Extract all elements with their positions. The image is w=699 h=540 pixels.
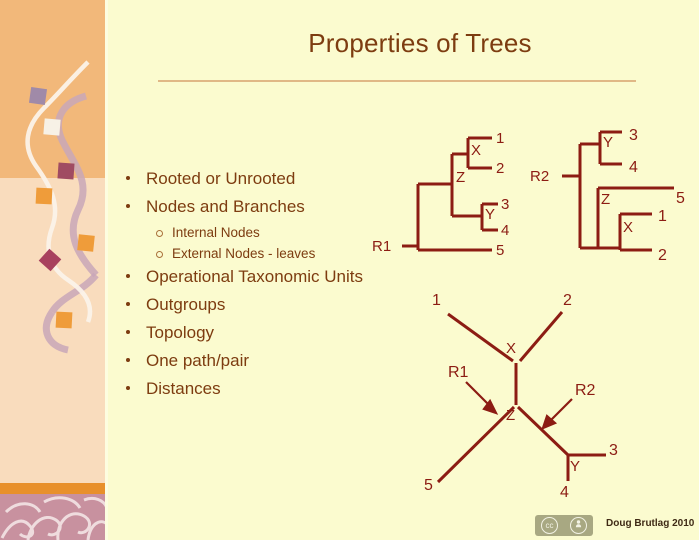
r2-branches bbox=[562, 132, 674, 250]
r1-leaf-4-label: 4 bbox=[501, 222, 509, 239]
sidebar-edge-highlight bbox=[105, 0, 108, 540]
title-divider bbox=[158, 80, 636, 82]
unrooted-r1-label: R1 bbox=[448, 364, 469, 381]
cc-icon: cc bbox=[541, 517, 558, 534]
r1-node-x-label: X bbox=[471, 142, 481, 159]
rooted-tree-r2-diagram: R2 Y Z X 3 4 5 1 2 bbox=[528, 126, 688, 276]
r2-leaf-2-label: 2 bbox=[658, 247, 667, 264]
r2-node-x-label: X bbox=[623, 219, 633, 236]
sidebar-square-maroon-1 bbox=[57, 162, 74, 179]
r2-leaf-4-label: 4 bbox=[629, 159, 638, 176]
unrooted-tree-diagram: 1 2 X R1 Z R2 3 Y 4 5 bbox=[420, 285, 650, 500]
bullet-label: Rooted or Unrooted bbox=[146, 169, 295, 188]
r1-leaf-1-label: 1 bbox=[496, 130, 504, 147]
bullet-dot-icon bbox=[126, 274, 130, 278]
bullet-label: External Nodes - leaves bbox=[172, 246, 315, 261]
bullet-label: Internal Nodes bbox=[172, 225, 260, 240]
bullet-item-topology: Topology bbox=[118, 322, 418, 343]
bullet-dot-icon bbox=[126, 386, 130, 390]
r1-node-y-label: Y bbox=[485, 206, 495, 223]
r2-leaf-5-label: 5 bbox=[676, 190, 685, 207]
cc-by-person-icon bbox=[570, 517, 587, 534]
r1-leaf-3-label: 3 bbox=[501, 196, 509, 213]
r1-root-label: R1 bbox=[372, 238, 391, 255]
bullet-item-distances: Distances bbox=[118, 378, 418, 399]
slide: Properties of Trees Rooted or Unrooted N… bbox=[0, 0, 699, 540]
unrooted-node-z-label: Z bbox=[506, 407, 515, 424]
bullet-label: Operational Taxonomic Units bbox=[146, 267, 363, 286]
bullet-dot-icon bbox=[126, 302, 130, 306]
r1-leaf-5-label: 5 bbox=[496, 242, 504, 256]
unrooted-leaf-5-label: 5 bbox=[424, 477, 433, 494]
r2-node-y-label: Y bbox=[603, 134, 613, 151]
sidebar-square-orange-3 bbox=[56, 312, 73, 329]
sidebar-square-purple-1 bbox=[29, 87, 47, 105]
sidebar-square-orange-2 bbox=[77, 234, 95, 252]
author-credit: Doug Brutlag 2010 bbox=[606, 518, 694, 529]
sidebar-ribbons bbox=[0, 0, 108, 540]
unrooted-leaf-1-label: 1 bbox=[432, 292, 441, 309]
bullet-label: Distances bbox=[146, 379, 221, 398]
r2-node-z-label: Z bbox=[601, 191, 610, 208]
bullet-item-one-path-pair: One path/pair bbox=[118, 350, 418, 371]
unrooted-leaf-2-label: 2 bbox=[563, 292, 572, 309]
r2-leaf-1-label: 1 bbox=[658, 208, 667, 225]
bullet-label: One path/pair bbox=[146, 351, 249, 370]
bullet-dot-icon bbox=[126, 204, 130, 208]
r2-leaf-3-label: 3 bbox=[629, 127, 638, 144]
rooted-tree-r1-diagram: R1 Z X Y 1 2 3 4 5 bbox=[370, 126, 515, 256]
unrooted-r2-label: R2 bbox=[575, 382, 596, 399]
r1-leaf-2-label: 2 bbox=[496, 160, 504, 177]
unrooted-node-y-label: Y bbox=[570, 458, 580, 475]
unrooted-leaf-4-label: 4 bbox=[560, 484, 569, 500]
r1-node-z-label: Z bbox=[456, 169, 465, 186]
unrooted-node-x-label: X bbox=[506, 340, 516, 357]
creative-commons-badge[interactable]: cc bbox=[535, 515, 593, 536]
bullet-item-outgroups: Outgroups bbox=[118, 294, 418, 315]
bullet-item-otus: Operational Taxonomic Units bbox=[118, 266, 418, 287]
unrooted-leaf-3-label: 3 bbox=[609, 442, 618, 459]
bullet-label: Topology bbox=[146, 323, 214, 342]
sidebar-square-white bbox=[43, 118, 60, 135]
bullet-label: Outgroups bbox=[146, 295, 225, 314]
sidebar-square-orange-1 bbox=[36, 188, 53, 205]
r2-pointer-arrow-icon bbox=[543, 399, 572, 428]
bullet-dot-icon bbox=[126, 176, 130, 180]
bullet-circle-icon bbox=[156, 230, 163, 237]
decorative-sidebar bbox=[0, 0, 108, 540]
page-title: Properties of Trees bbox=[150, 28, 690, 59]
bullet-dot-icon bbox=[126, 330, 130, 334]
person-glyph-icon bbox=[574, 520, 583, 531]
bullet-dot-icon bbox=[126, 358, 130, 362]
bullet-circle-icon bbox=[156, 251, 163, 258]
r2-root-label: R2 bbox=[530, 168, 549, 185]
r1-pointer-arrow-icon bbox=[466, 382, 496, 413]
bullet-label: Nodes and Branches bbox=[146, 197, 305, 216]
r1-branches bbox=[402, 138, 498, 250]
